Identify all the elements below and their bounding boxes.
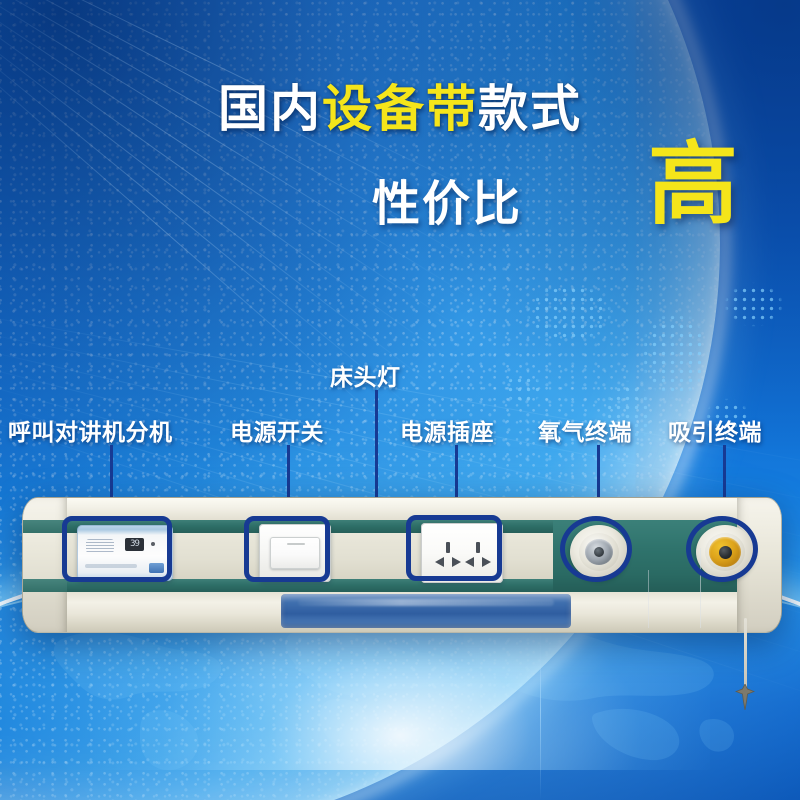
socket-pin-vertical (446, 542, 450, 553)
oxygen-port[interactable] (594, 547, 604, 557)
suction-hook-fitting (735, 684, 755, 710)
panel-end-cap-left (23, 498, 67, 632)
callout-label-bed-lamp: 床头灯 (330, 358, 401, 392)
bed-lamp-diffuser[interactable] (281, 594, 571, 628)
intercom-led-indicator (151, 542, 155, 546)
socket-pin-left (465, 557, 474, 567)
callout-layer: 呼叫对讲机分机电源开关床头灯电源插座氧气终端吸引终端 (0, 0, 800, 800)
suction-port[interactable] (719, 546, 732, 559)
promo-banner-stage: 国内设备带款式 性价比 高 呼叫对讲机分机电源开关床头灯电源插座氧气终端吸引终端 (0, 0, 800, 800)
oxygen-terminal-device[interactable] (570, 525, 628, 579)
callout-label-power-socket: 电源插座 (400, 413, 494, 447)
intercom-speaker-grille (86, 539, 114, 553)
intercom-call-button[interactable] (149, 563, 164, 573)
intercom-display-value: 39 (130, 540, 139, 549)
panel-top-bead (23, 498, 781, 520)
socket-outlet-2[interactable] (464, 542, 492, 568)
socket-pin-vertical (476, 542, 480, 553)
oxygen-hanging-wire (700, 548, 701, 628)
intercom-display: 39 (125, 538, 144, 551)
power-socket-device[interactable] (421, 523, 503, 583)
socket-pin-right (452, 557, 461, 567)
callout-label-oxygen: 氧气终端 (538, 413, 632, 447)
power-switch-device[interactable] (259, 524, 331, 582)
socket-pin-right (482, 557, 491, 567)
callout-label-suction: 吸引终端 (668, 413, 762, 447)
medical-equipment-panel: 39 (22, 497, 782, 633)
switch-rocker[interactable] (270, 537, 320, 569)
suction-terminal-device[interactable] (696, 525, 754, 579)
callout-label-power-switch: 电源开关 (230, 413, 324, 447)
panel-body: 39 (22, 497, 782, 633)
nurse-call-intercom-device[interactable]: 39 (77, 525, 173, 581)
socket-pin-left (435, 557, 444, 567)
end-cap-stripe-top (23, 520, 67, 533)
end-cap-stripe-bottom (23, 579, 67, 592)
intercom-lower-slot (85, 564, 137, 568)
callout-label-intercom: 呼叫对讲机分机 (8, 413, 173, 447)
panel-thin-wire (648, 570, 649, 628)
suction-hanging-hose (744, 618, 747, 694)
socket-outlet-1[interactable] (434, 542, 462, 568)
